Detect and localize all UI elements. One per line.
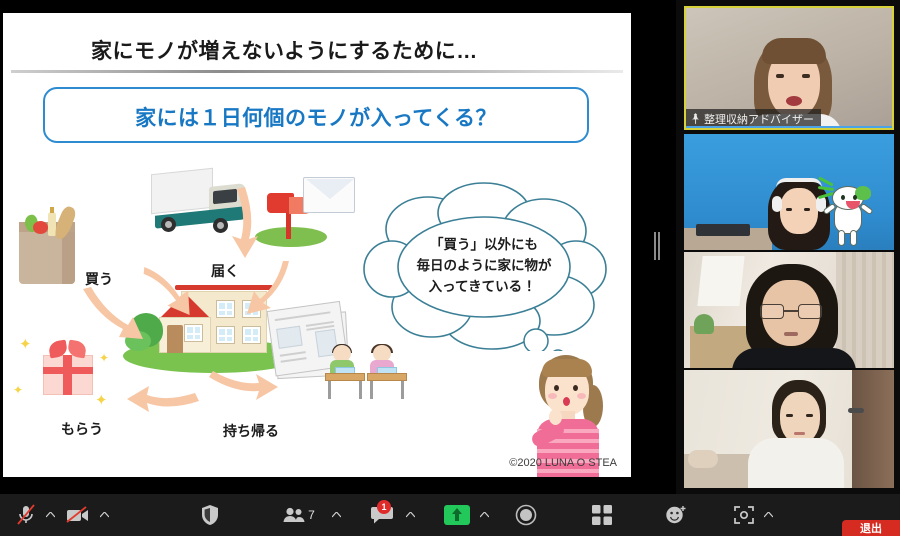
thought-bubble-text: 「買う」以外にも 毎日のように家に物が 入ってきている ！	[358, 235, 610, 298]
shared-screen-region[interactable]: 家にモノが増えないようにするために… 家には１日何個のモノが入ってくる？ 買う	[0, 0, 676, 494]
zoom-meeting-window: 家にモノが増えないようにするために… 家には１日何個のモノが入ってくる？ 買う	[0, 0, 900, 536]
slide-title-divider	[11, 70, 623, 73]
share-arrow-up-icon	[451, 508, 463, 522]
chevron-up-icon	[332, 512, 341, 518]
video-feed-4	[684, 370, 894, 488]
frame-apps-icon	[734, 505, 754, 525]
participant-name-1: 整理収納アドバイザー	[704, 111, 814, 127]
share-screen-button[interactable]	[444, 505, 470, 525]
chevron-up-icon	[764, 512, 773, 518]
slide-title-bar: 家にモノが増えないようにするために…	[3, 13, 631, 63]
chevron-up-icon	[46, 512, 55, 518]
video-tile-4[interactable]	[684, 370, 894, 488]
smiley-plus-icon	[665, 505, 687, 525]
presentation-slide[interactable]: 家にモノが増えないようにするために… 家には１日何個のモノが入ってくる？ 買う	[3, 13, 631, 477]
video-feed-3	[684, 252, 894, 368]
slide-question-box: 家には１日何個のモノが入ってくる？	[43, 87, 589, 143]
video-feed-2	[684, 134, 894, 250]
chevron-up-icon	[406, 512, 415, 518]
leave-meeting-button[interactable]: 退出	[842, 520, 900, 536]
mute-audio-button[interactable]	[6, 494, 46, 536]
slide-title: 家にモノが増えないようにするために…	[91, 35, 478, 65]
breakout-rooms-button[interactable]	[582, 494, 622, 536]
participants-count: 7	[308, 508, 315, 522]
chevron-up-icon	[100, 512, 109, 518]
meeting-toolbar: 7 1	[0, 494, 900, 536]
slide-illustration: 買う 届く	[3, 151, 631, 477]
video-off-icon	[66, 506, 90, 524]
shield-icon	[200, 504, 220, 526]
share-options-caret[interactable]	[476, 494, 492, 536]
slide-question-text: 家には１日何個のモノが入ってくる？	[45, 102, 587, 132]
panel-drag-handle[interactable]	[652, 232, 662, 260]
record-button[interactable]	[506, 494, 546, 536]
video-tile-3[interactable]	[684, 252, 894, 368]
chat-button[interactable]: 1	[364, 494, 400, 536]
chat-options-caret[interactable]	[402, 494, 418, 536]
reactions-button[interactable]	[656, 494, 696, 536]
thought-bubble: 「買う」以外にも 毎日のように家に物が 入ってきている ！	[358, 181, 610, 351]
participants-icon	[283, 507, 305, 523]
cat-mascot-icon	[828, 186, 868, 248]
participants-options-caret[interactable]	[328, 494, 344, 536]
grid-squares-icon	[592, 505, 612, 525]
chevron-up-icon	[480, 512, 489, 518]
chat-unread-badge: 1	[377, 500, 391, 514]
pin-icon	[691, 113, 700, 124]
security-button[interactable]	[190, 494, 230, 536]
video-gallery: 整理収納アドバイザー	[676, 0, 900, 494]
participants-button[interactable]: 7	[272, 494, 326, 536]
eyeglasses-icon	[760, 304, 822, 319]
microphone-muted-icon	[16, 504, 36, 526]
apps-button[interactable]	[724, 494, 764, 536]
video-tile-2[interactable]	[684, 134, 894, 250]
video-tile-1[interactable]: 整理収納アドバイザー	[684, 6, 894, 130]
apps-options-caret[interactable]	[760, 494, 776, 536]
stop-video-button[interactable]	[58, 494, 98, 536]
audio-options-caret[interactable]	[42, 494, 58, 536]
slide-copyright: ©2020 LUNA O STEA	[509, 457, 617, 469]
record-icon	[515, 504, 537, 526]
video-options-caret[interactable]	[96, 494, 112, 536]
